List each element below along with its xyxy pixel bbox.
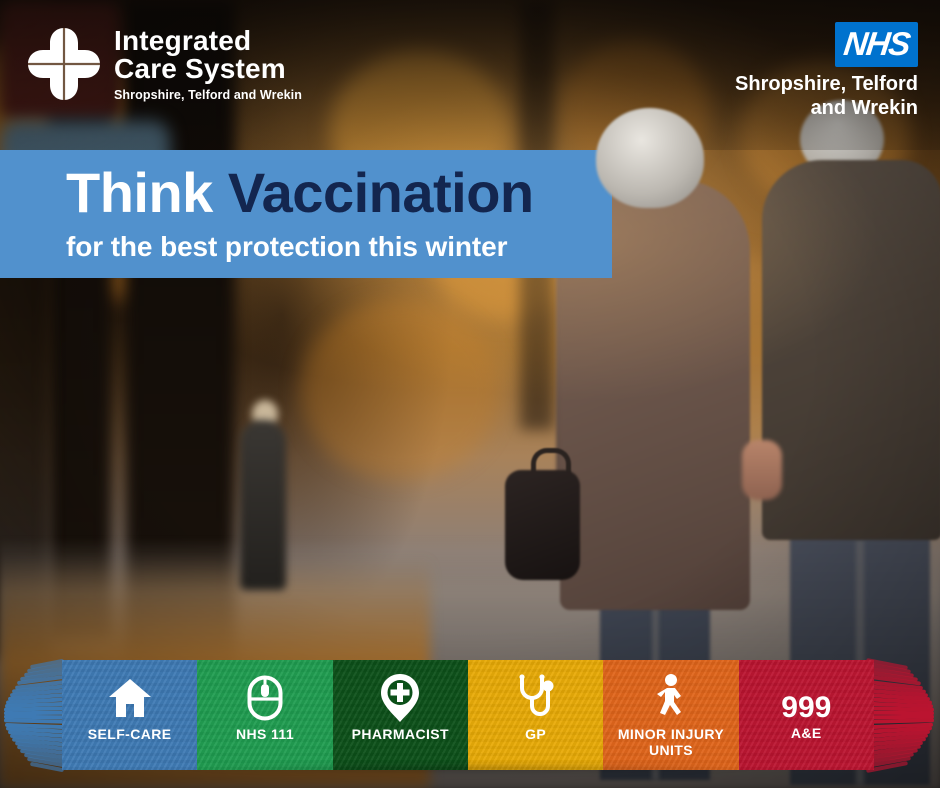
scarf-fringe-right: [866, 660, 940, 770]
scarf-banner: SELF-CARE NHS 111: [62, 660, 874, 770]
ics-logo-text: Integrated Care System Shropshire, Telfo…: [114, 27, 302, 102]
nhs-subtitle-line1: Shropshire, Telford: [735, 73, 918, 97]
nhs-badge-text: NHS: [841, 25, 911, 63]
ics-cross-logo-icon: [28, 26, 100, 102]
scarf-segment-gp[interactable]: GP: [468, 660, 603, 770]
scarf-999-stack: 999 A&E: [781, 666, 831, 764]
poster: Integrated Care System Shropshire, Telfo…: [0, 0, 940, 788]
walking-person-icon: [653, 672, 689, 724]
scarf-segment-nhs-111[interactable]: NHS 111: [197, 660, 332, 770]
scarf-fringe-left: [0, 660, 64, 770]
scarf-segment-minor-injury-units[interactable]: MINOR INJURY UNITS: [603, 660, 738, 770]
nhs-subtitle: Shropshire, Telford and Wrekin: [735, 73, 918, 120]
scarf-label-ae: A&E: [791, 725, 822, 741]
scarf-label-minor-injury-units: MINOR INJURY UNITS: [618, 727, 724, 758]
headline-word-vaccination: Vaccination: [213, 161, 534, 224]
scarf-label-999: 999: [781, 693, 831, 723]
headline-word-think: Think: [66, 161, 213, 224]
house-icon: [108, 672, 152, 724]
headline-main: Think Vaccination: [66, 164, 612, 223]
nhs-badge: NHS: [835, 22, 918, 67]
scarf-segment-self-care[interactable]: SELF-CARE: [62, 660, 197, 770]
scarf-label-nhs-111: NHS 111: [236, 727, 294, 743]
scarf-segment-pharmacist[interactable]: PHARMACIST: [333, 660, 468, 770]
ics-logo-line1: Integrated: [114, 27, 302, 56]
headline-subhead: for the best protection this winter: [66, 231, 612, 263]
ics-logo: Integrated Care System Shropshire, Telfo…: [28, 26, 302, 102]
ics-logo-subtitle: Shropshire, Telford and Wrekin: [114, 89, 302, 102]
nhs-logo: NHS Shropshire, Telford and Wrekin: [735, 22, 918, 120]
ics-logo-line2: Care System: [114, 55, 302, 84]
headline-banner: Think Vaccination for the best protectio…: [0, 150, 612, 278]
computer-mouse-icon: [247, 672, 283, 724]
scarf-label-pharmacist: PHARMACIST: [352, 727, 449, 743]
scarf-segment-999-ae[interactable]: 999 A&E: [739, 660, 874, 770]
stethoscope-icon: [514, 672, 558, 724]
scarf-label-gp: GP: [525, 727, 546, 743]
map-pin-cross-icon: [380, 672, 420, 724]
scarf-shadow: [70, 766, 870, 784]
woman-head-overlap: [596, 108, 704, 208]
nhs-subtitle-line2: and Wrekin: [735, 97, 918, 121]
scarf-label-self-care: SELF-CARE: [88, 727, 172, 743]
